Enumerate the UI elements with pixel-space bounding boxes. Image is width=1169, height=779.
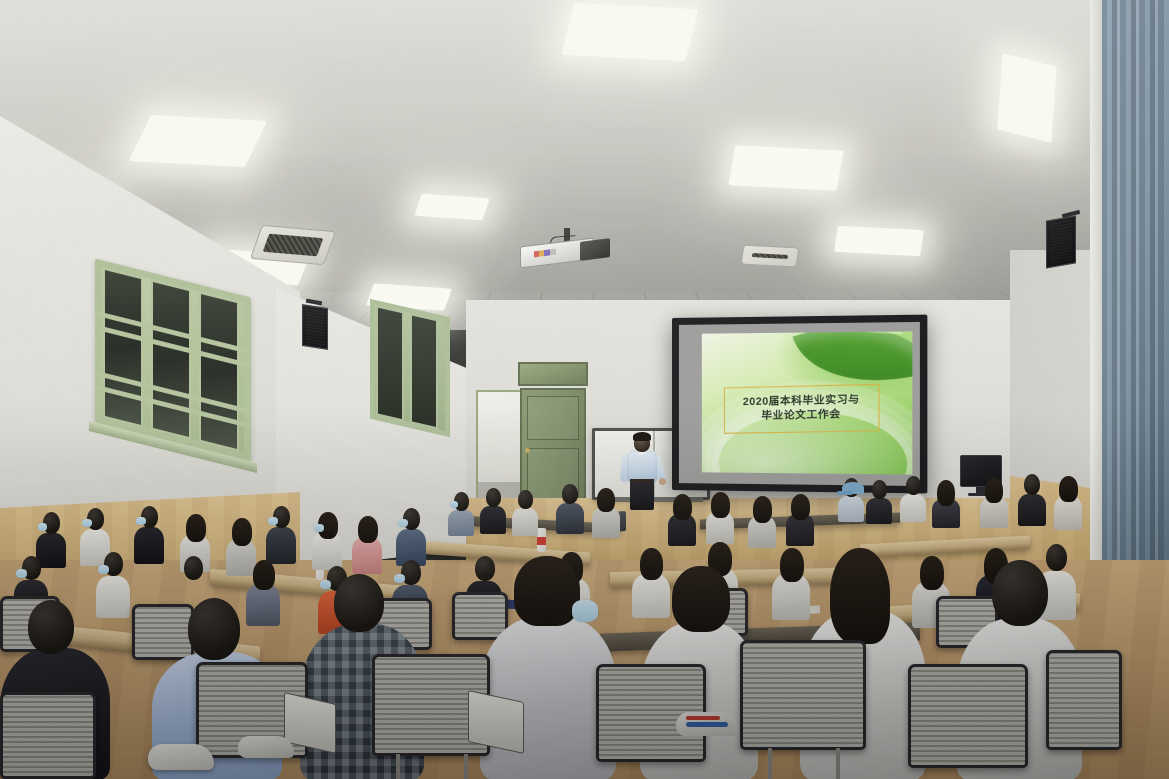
audience-person [706,492,734,544]
door-transom-window [518,362,588,386]
ceiling-light-panel [562,3,699,61]
presenter [622,434,662,510]
projector-lens [580,238,610,261]
audience-person [1054,476,1082,530]
face-mask [572,600,598,622]
audience-person [448,492,474,536]
audience-person [480,488,506,534]
water-bottle [537,528,546,552]
audience-person [1018,474,1046,526]
audience-person [266,506,296,564]
chair-foreground[interactable] [740,640,866,750]
ceiling-light-panel [728,145,843,191]
ceiling-light-panel [997,53,1056,142]
sneaker-stripe [686,722,728,727]
audience-person [312,512,342,570]
chair-foreground[interactable] [0,692,96,779]
audience-person-with-cap [840,482,866,504]
chair-foreground[interactable] [1046,650,1122,750]
ceiling-projector [520,234,612,268]
audience-person [592,488,620,538]
slide-title-line-2: 毕业论文工作会 [762,409,841,424]
sneaker [238,736,294,758]
audience-person [134,506,164,564]
sneaker [148,744,214,770]
speaker-left-icon [302,304,328,350]
ceiling-ac-vent [741,245,800,268]
audience-person [512,490,538,536]
door-knob[interactable] [525,448,530,453]
classroom-photo: 2020届本科毕业实习与 毕业论文工作会 [0,0,1169,779]
window-left-far [370,299,450,437]
audience-person [932,480,960,528]
audience-person [900,476,926,522]
ceiling-light-panel [414,194,489,221]
audience-person [748,496,776,548]
audience-person [396,508,426,566]
audience-person [352,516,382,574]
audience-person [556,484,584,534]
sneaker-stripe [686,716,720,720]
audience-person [980,478,1008,528]
audience-person [786,494,814,546]
chair-foreground[interactable] [908,664,1028,768]
audience-person [866,480,892,524]
projection-screen: 2020届本科毕业实习与 毕业论文工作会 [672,315,927,494]
chair-foreground[interactable] [372,654,490,756]
ceiling-ac-vent [250,225,336,265]
audience-person [668,494,696,546]
slide-title-box: 2020届本科毕业实习与 毕业论文工作会 [724,384,880,434]
presentation-slide: 2020届本科毕业实习与 毕业论文工作会 [702,331,913,474]
speaker-right-icon [1046,215,1076,268]
ceiling-light-panel [834,226,924,257]
ceiling-light-panel [129,115,267,167]
